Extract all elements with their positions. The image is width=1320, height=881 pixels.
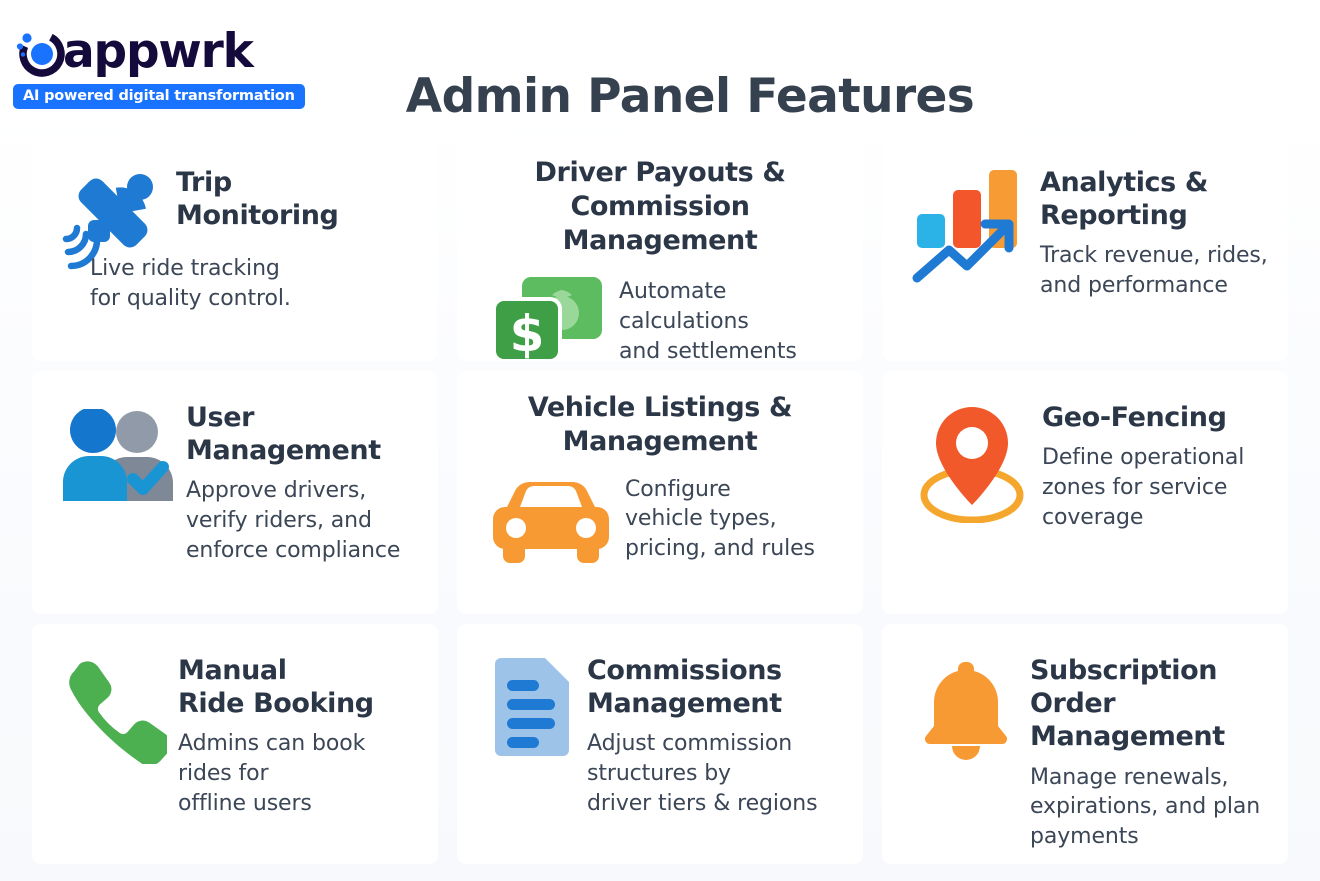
users-verified-icon (52, 401, 186, 503)
car-icon (477, 463, 625, 569)
card-description: Track revenue, rides, and performance (1040, 241, 1268, 300)
card-title: Analytics & Reporting (1040, 166, 1268, 232)
svg-text:$: $ (510, 305, 545, 361)
card-text: Analytics & Reporting Track revenue, rid… (1040, 166, 1268, 301)
feature-card-trip-monitoring[interactable]: Trip Monitoring Live ride tracking for q… (32, 136, 438, 361)
card-description: Adjust commission structures by driver t… (587, 729, 843, 818)
document-lines-icon (477, 654, 587, 756)
card-text: Trip Monitoring Live ride tracking for q… (176, 166, 418, 314)
feature-card-subscription-order-management[interactable]: Subscription Order Management Manage ren… (882, 624, 1288, 864)
feature-card-driver-payouts[interactable]: Driver Payouts & Commission Management $ (457, 136, 863, 361)
card-text: Configure vehicle types, pricing, and ru… (625, 463, 843, 564)
card-title: Geo-Fencing (1042, 401, 1268, 434)
bell-icon (902, 654, 1030, 760)
map-pin-geofence-icon (902, 401, 1042, 523)
card-description: Admins can book rides for offline users (178, 729, 418, 818)
card-title: User Management (186, 401, 418, 467)
feature-card-analytics-reporting[interactable]: Analytics & Reporting Track revenue, rid… (882, 136, 1288, 361)
card-text: Automate calculations and settlements (619, 261, 843, 361)
phone-icon (52, 654, 178, 764)
card-text: Subscription Order Management Manage ren… (1030, 654, 1268, 852)
card-body: $ Automate calculations and settlements (477, 261, 843, 361)
card-description: Approve drivers, verify riders, and enfo… (186, 476, 418, 565)
feature-card-vehicle-listings[interactable]: Vehicle Listings & Management (457, 371, 863, 614)
feature-card-geo-fencing[interactable]: Geo-Fencing Define operational zones for… (882, 371, 1288, 614)
page-header: appwrk AI powered digital transformation… (0, 0, 1320, 128)
card-description: Configure vehicle types, pricing, and ru… (625, 475, 843, 564)
feature-card-commissions-management[interactable]: Commissions Management Adjust commission… (457, 624, 863, 864)
card-title: Commissions Management (587, 654, 843, 720)
card-text: Commissions Management Adjust commission… (587, 654, 843, 818)
feature-card-user-management[interactable]: User Management Approve drivers, verify … (32, 371, 438, 614)
logo-wordmark: appwrk (63, 28, 253, 75)
money-cards-icon: $ (477, 261, 619, 361)
card-text: Manual Ride Booking Admins can book ride… (178, 654, 418, 818)
features-grid: Trip Monitoring Live ride tracking for q… (32, 136, 1288, 864)
card-title: Manual Ride Booking (178, 654, 418, 720)
bar-chart-trend-icon (902, 166, 1040, 286)
card-title: Subscription Order Management (1030, 654, 1268, 754)
card-title: Trip Monitoring (176, 166, 418, 232)
card-description: Manage renewals, expirations, and plan p… (1030, 763, 1268, 852)
card-title: Driver Payouts & Commission Management (477, 156, 843, 257)
page-title: Admin Panel Features (0, 69, 1320, 124)
feature-card-manual-ride-booking[interactable]: Manual Ride Booking Admins can book ride… (32, 624, 438, 864)
card-body: Configure vehicle types, pricing, and ru… (477, 463, 843, 605)
card-description: Define operational zones for service cov… (1042, 443, 1268, 532)
card-text: Geo-Fencing Define operational zones for… (1042, 401, 1268, 532)
card-title: Vehicle Listings & Management (477, 391, 843, 459)
card-description: Live ride tracking for quality control. (90, 254, 418, 313)
features-page: appwrk AI powered digital transformation… (0, 0, 1320, 881)
card-text: User Management Approve drivers, verify … (186, 401, 418, 565)
card-description: Automate calculations and settlements (619, 277, 843, 361)
